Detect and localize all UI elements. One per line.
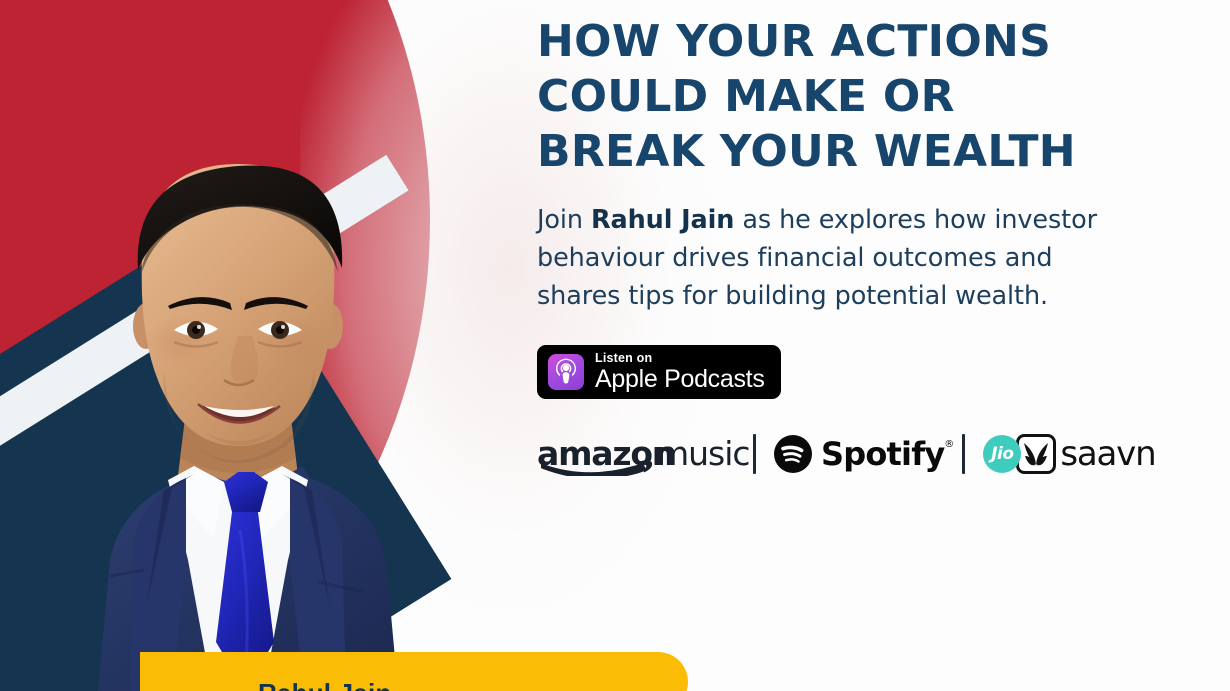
- amazon-music-wordmark: music: [657, 434, 750, 473]
- spotify-word-text: Spotify: [821, 435, 944, 473]
- subheadline: Join Rahul Jain as he explores how inves…: [537, 201, 1197, 315]
- subheadline-line-3: shares tips for building potential wealt…: [537, 277, 1197, 315]
- apple-podcasts-label-group: Listen on Apple Podcasts: [595, 352, 765, 392]
- subheadline-prefix: Join: [537, 205, 591, 235]
- saavn-wordmark: saavn: [1060, 434, 1155, 474]
- platform-logos-row: amazon music: [537, 431, 1197, 477]
- subheadline-line-2: behaviour drives financial outcomes and: [537, 239, 1197, 277]
- jiosaavn-mark-icon: [1016, 434, 1056, 474]
- subheadline-suffix: as he explores how investor: [734, 205, 1097, 235]
- page-title: HOW YOUR ACTIONS COULD MAKE OR BREAK YOU…: [537, 14, 1197, 179]
- banner-speaker-name: Rahul Jain: [258, 678, 678, 691]
- spotify-trademark: ®: [944, 439, 953, 450]
- amazon-music-logo[interactable]: amazon music: [537, 432, 735, 476]
- apple-podcasts-label: Apple Podcasts: [595, 367, 765, 392]
- speaker-portrait: [18, 130, 518, 691]
- speaker-name-highlight: Rahul Jain: [591, 205, 734, 235]
- jio-label: Jio: [991, 444, 1013, 464]
- subheadline-line-1: Join Rahul Jain as he explores how inves…: [537, 201, 1197, 239]
- listen-on-label: Listen on: [595, 352, 765, 365]
- jiosaavn-logo[interactable]: Jio saavn: [983, 434, 1155, 474]
- headline-line-2: COULD MAKE OR: [537, 69, 1197, 124]
- spotify-logo[interactable]: Spotify®: [774, 435, 944, 473]
- amazon-swoosh-icon: [541, 459, 653, 481]
- content-column: HOW YOUR ACTIONS COULD MAKE OR BREAK YOU…: [537, 14, 1197, 477]
- logo-divider-2: [962, 434, 965, 474]
- podcast-promo-poster: Rahul Jain HOW YOUR ACTIONS COULD MAKE O…: [0, 0, 1230, 691]
- spotify-mark-icon: [774, 435, 812, 473]
- spotify-wordmark: Spotify®: [821, 435, 944, 473]
- headline-line-1: HOW YOUR ACTIONS: [537, 14, 1197, 69]
- logo-divider-1: [753, 434, 756, 474]
- headline-line-3: BREAK YOUR WEALTH: [537, 124, 1197, 179]
- apple-podcasts-icon: [548, 354, 584, 390]
- listen-on-apple-podcasts-button[interactable]: Listen on Apple Podcasts: [537, 345, 781, 399]
